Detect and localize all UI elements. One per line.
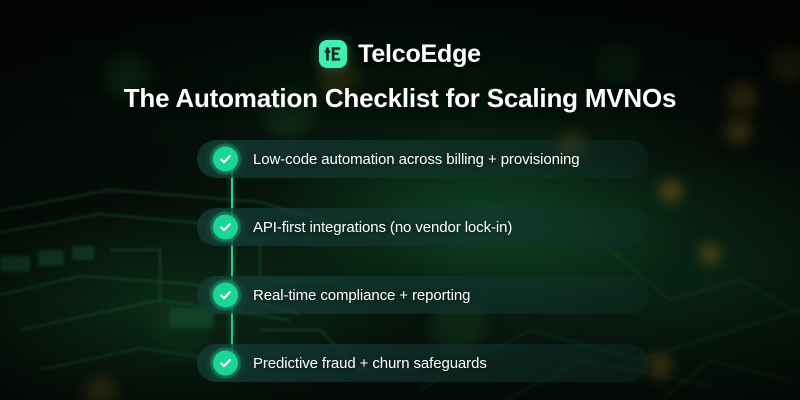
list-item[interactable]: Real-time compliance + reporting — [197, 276, 649, 314]
list-item-label: Real-time compliance + reporting — [253, 287, 470, 304]
infographic-canvas: TelcoEdge The Automation Checklist for S… — [0, 0, 800, 400]
check-icon — [213, 283, 238, 308]
telcoedge-logo-icon — [319, 40, 347, 68]
check-icon — [213, 351, 238, 376]
checklist: Low-code automation across billing + pro… — [197, 140, 649, 382]
brand-name: TelcoEdge — [358, 42, 481, 67]
list-item[interactable]: Low-code automation across billing + pro… — [197, 140, 649, 178]
check-icon — [213, 147, 238, 172]
list-item[interactable]: Predictive fraud + churn safeguards — [197, 344, 649, 382]
brand-lockup: TelcoEdge — [0, 40, 800, 68]
list-item-label: API-first integrations (no vendor lock-i… — [253, 219, 512, 236]
list-item-label: Low-code automation across billing + pro… — [253, 151, 580, 168]
list-item-label: Predictive fraud + churn safeguards — [253, 355, 487, 372]
timeline-connector — [231, 160, 233, 370]
content-layer: TelcoEdge The Automation Checklist for S… — [0, 0, 800, 400]
page-title: The Automation Checklist for Scaling MVN… — [0, 83, 800, 114]
list-item[interactable]: API-first integrations (no vendor lock-i… — [197, 208, 649, 246]
check-icon — [213, 215, 238, 240]
